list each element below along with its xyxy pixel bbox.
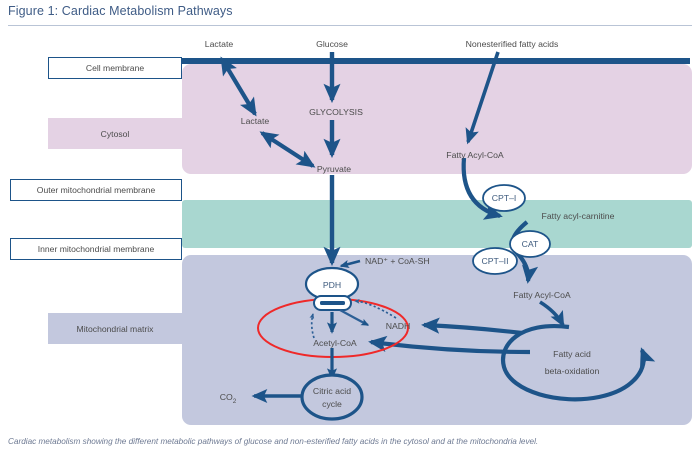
label-nonesterified-fatty-acids: Nonesterified fatty acids xyxy=(466,39,559,49)
band-mitochondrial-matrix xyxy=(182,255,692,425)
pdh-complex-bar xyxy=(320,301,345,305)
label-beta-oxidation-line1: Fatty acid xyxy=(553,349,591,359)
cell-membrane-bar xyxy=(182,58,690,64)
label-pdh: PDH xyxy=(323,280,341,290)
citric-acid-cycle-node xyxy=(302,375,362,419)
label-glycolysis: GLYCOLYSIS xyxy=(309,107,363,117)
label-cpt1: CPT–I xyxy=(492,193,517,203)
label-fatty-acyl-coa-matrix: Fatty Acyl-CoA xyxy=(513,290,571,300)
pathway-diagram: Lactate Glucose Nonesterified fatty acid… xyxy=(0,0,700,457)
co2-subscript: 2 xyxy=(233,398,237,405)
label-nadh: NADH xyxy=(386,321,411,331)
label-fatty-acyl-carnitine: Fatty acyl-carnitine xyxy=(542,211,615,221)
label-pyruvate: Pyruvate xyxy=(317,164,351,174)
label-glucose: Glucose xyxy=(316,39,348,49)
label-fatty-acyl-coa-cytosol: Fatty Acyl-CoA xyxy=(446,150,504,160)
figure-caption: Cardiac metabolism showing the different… xyxy=(8,437,692,447)
label-nad-coash: NAD⁺ + CoA-SH xyxy=(365,256,430,266)
label-cat: CAT xyxy=(522,239,539,249)
label-acetyl-coa: Acetyl-CoA xyxy=(313,338,357,348)
band-intermembrane-space xyxy=(182,200,692,248)
label-citric-acid-cycle-line1: Citric acid xyxy=(313,386,351,396)
figure-panel: Figure 1: Cardiac Metabolism Pathways Ce… xyxy=(0,0,700,457)
label-lactate-extracellular: Lactate xyxy=(205,39,234,49)
label-citric-acid-cycle-line2: cycle xyxy=(322,399,342,409)
label-lactate-cytosolic: Lactate xyxy=(241,116,270,126)
label-beta-oxidation-line2: beta-oxidation xyxy=(545,366,600,376)
label-cpt2: CPT–II xyxy=(481,256,508,266)
